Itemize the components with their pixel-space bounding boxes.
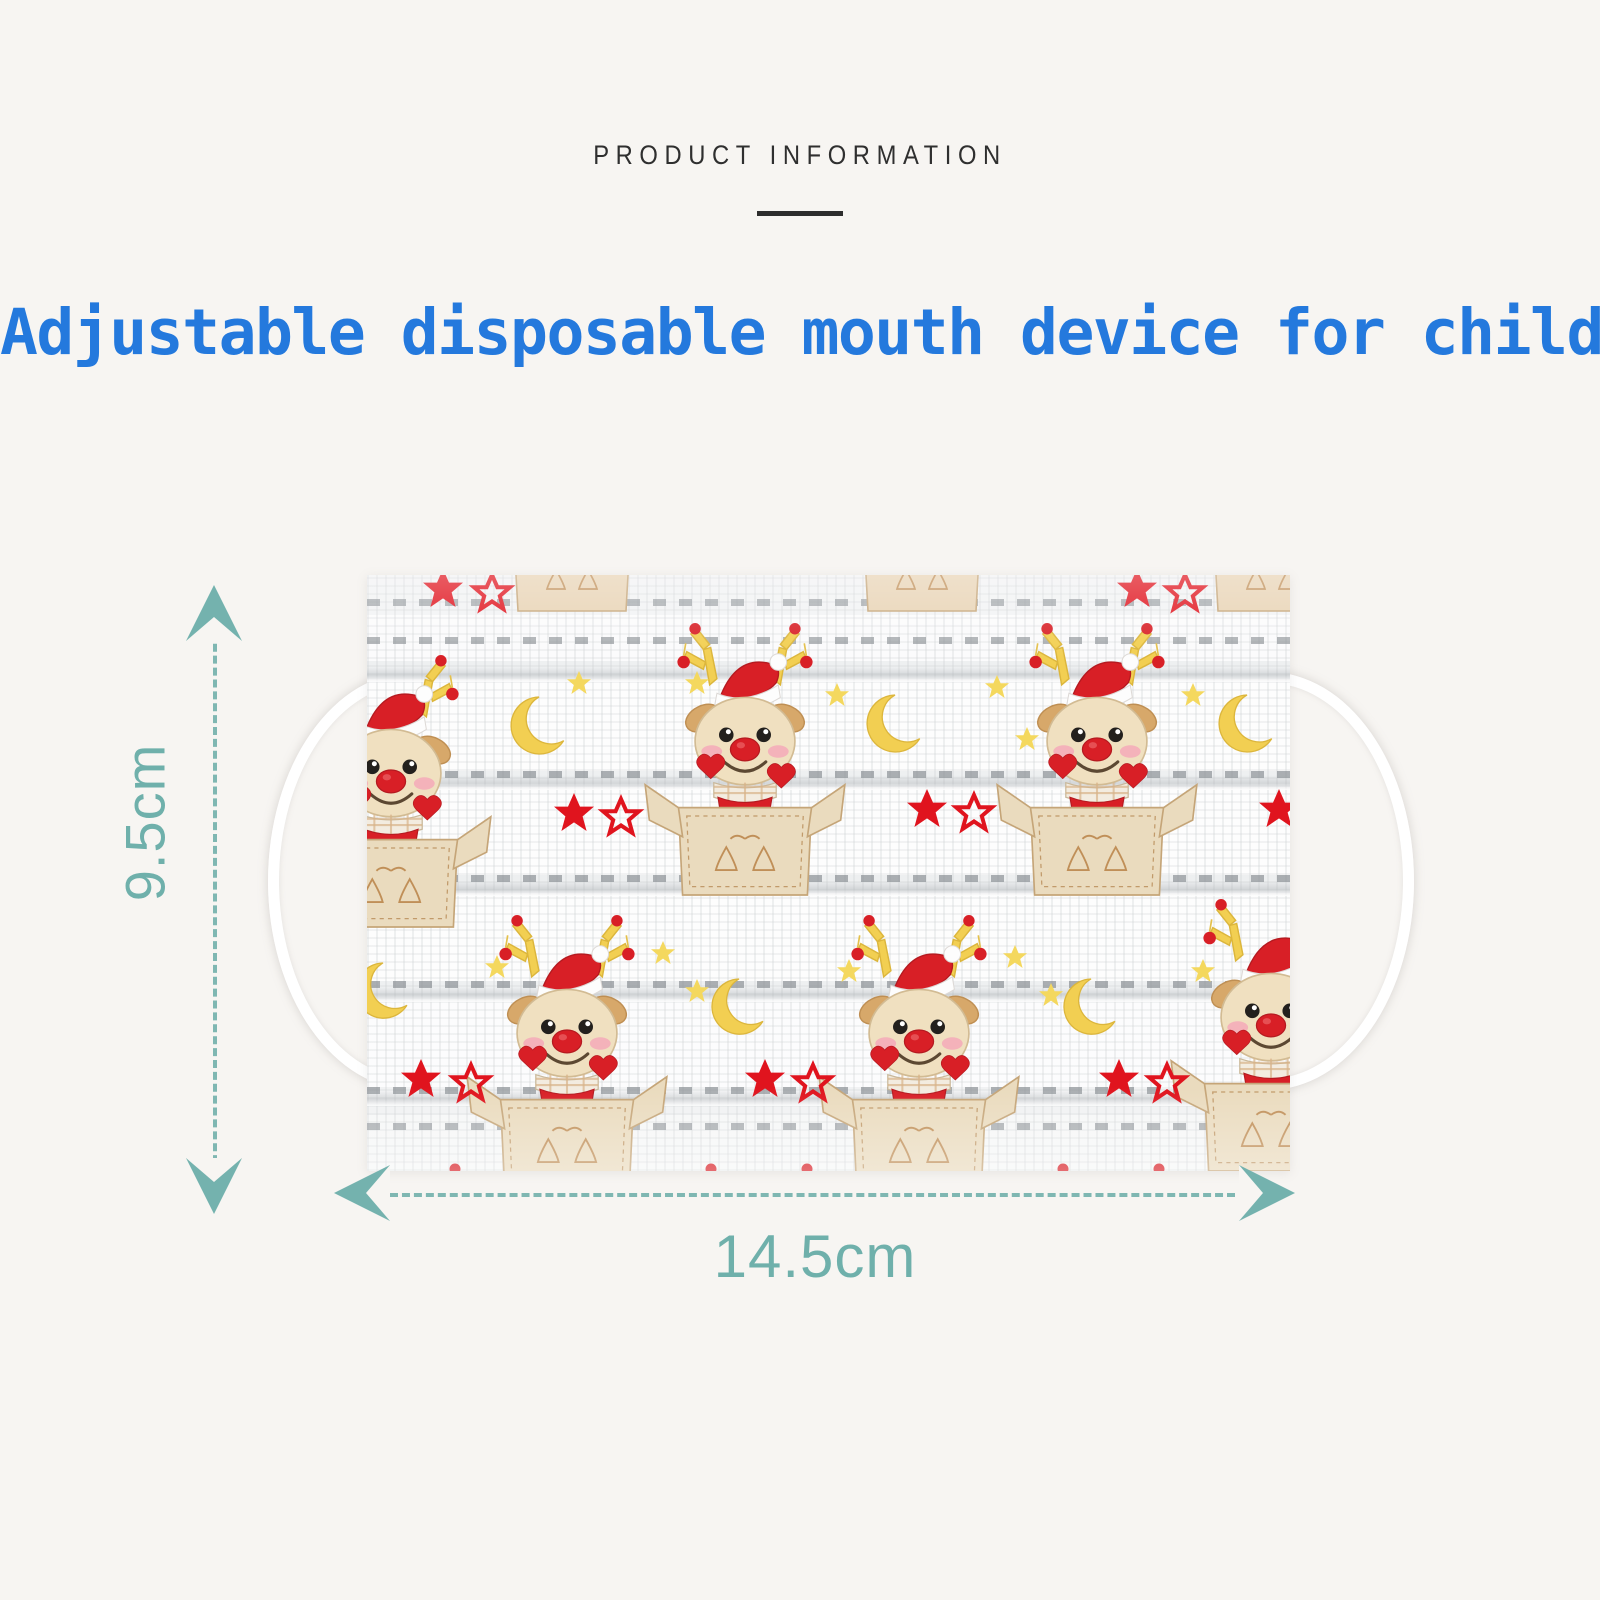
arrow-up-notch — [186, 617, 242, 641]
width-dimension-line — [390, 1193, 1235, 1197]
arrow-down-notch — [186, 1158, 242, 1182]
arrow-left-notch — [366, 1165, 390, 1221]
width-dimension-label: 14.5cm — [620, 1222, 1010, 1291]
height-dimension-label: 9.5cm — [113, 673, 178, 973]
height-dimension-line — [213, 620, 217, 1175]
arrow-right-notch — [1239, 1165, 1263, 1221]
face-mask-body — [367, 575, 1290, 1171]
product-image-stage: 9.5cm 14.5cm — [0, 0, 1600, 1600]
mask-print-pattern — [367, 575, 1290, 1171]
